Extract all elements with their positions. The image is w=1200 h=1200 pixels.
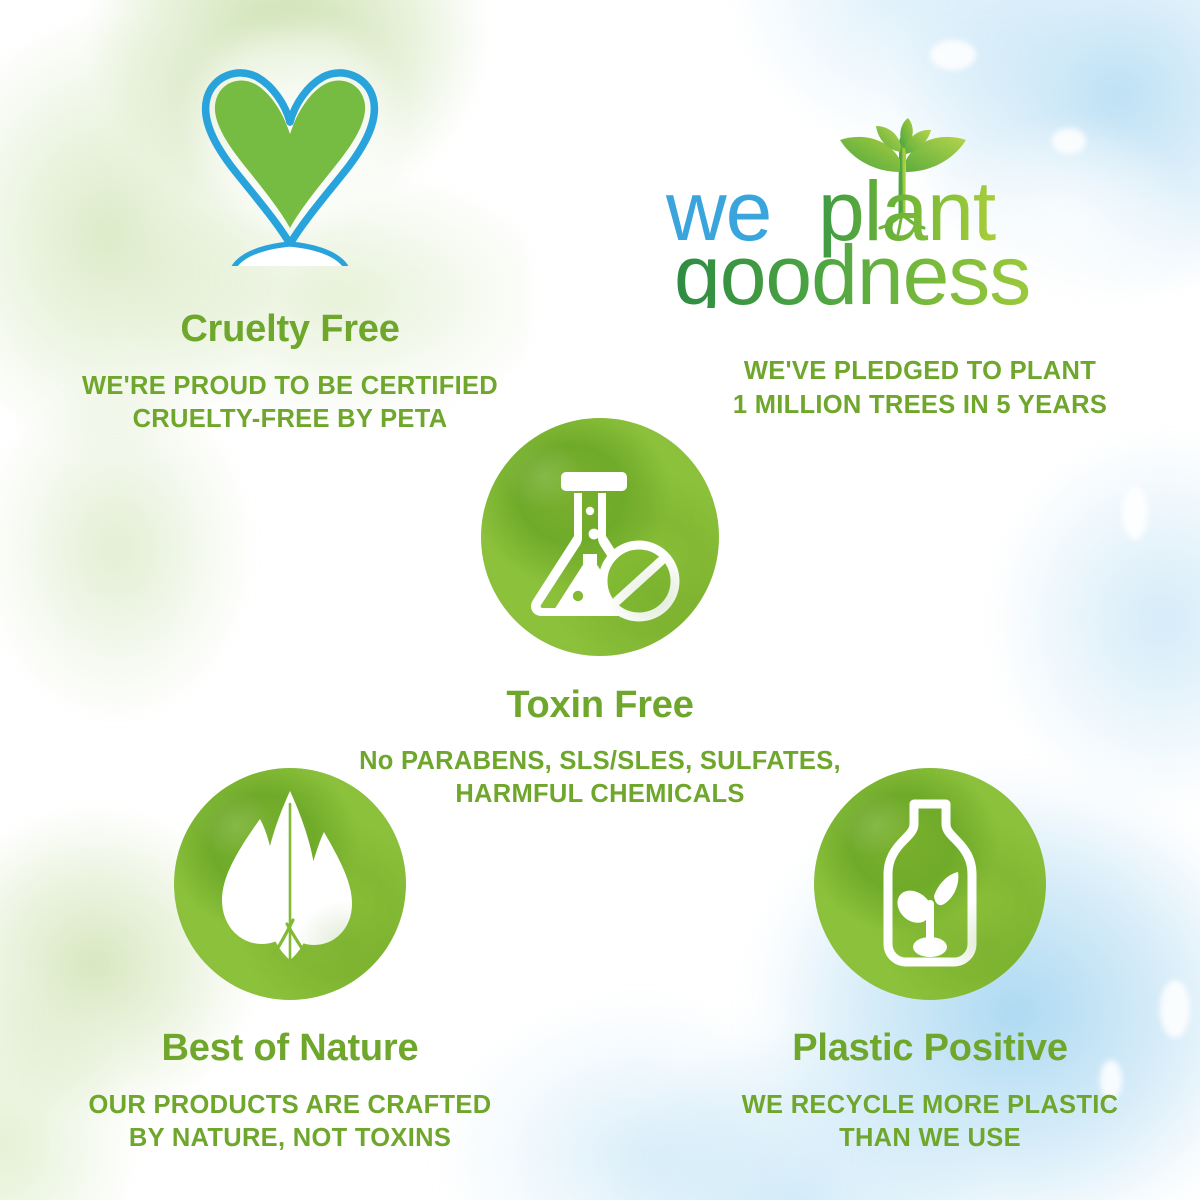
svg-text:goodness: goodness: [674, 228, 1030, 308]
badge-heading: Best of Nature: [5, 1027, 575, 1070]
badge-we-plant-goodness: we plant goodness WE'VE PLEDGED TO PLANT…: [640, 118, 1200, 422]
badge-cruelty-free: Cruelty Free WE'RE PROUD TO BE CERTIFIED…: [0, 38, 580, 437]
badge-description-line-2: BY NATURE, NOT TOXINS: [5, 1122, 575, 1156]
badge-description-line-1: OUR PRODUCTS ARE CRAFTED: [5, 1089, 575, 1123]
badge-description-line-1: WE'VE PLEDGED TO PLANT: [640, 355, 1200, 389]
paper-fleck: [930, 40, 976, 70]
badge-heading: Toxin Free: [320, 684, 880, 727]
peta-bunny-heart-icon: [0, 38, 580, 266]
flask-no-entry-icon: [481, 418, 719, 656]
infographic-canvas: Cruelty Free WE'RE PROUD TO BE CERTIFIED…: [0, 0, 1200, 1200]
bottle-sprout-icon: [814, 768, 1046, 1000]
badge-description-line-1: WE RECYCLE MORE PLASTIC: [650, 1089, 1200, 1123]
badge-description-line-1: WE'RE PROUD TO BE CERTIFIED: [0, 370, 580, 404]
badge-heading: Plastic Positive: [650, 1027, 1200, 1070]
badge-toxin-free: Toxin Free No PARABENS, SLS/SLES, SULFAT…: [320, 418, 880, 812]
three-leaves-icon: [174, 768, 406, 1000]
we-plant-goodness-logo: we plant goodness: [640, 118, 1200, 308]
badge-description-line-2: THAN WE USE: [650, 1122, 1200, 1156]
paper-fleck: [1122, 486, 1148, 540]
badge-plastic-positive: Plastic Positive WE RECYCLE MORE PLASTIC…: [650, 768, 1200, 1156]
badge-best-of-nature: Best of Nature OUR PRODUCTS ARE CRAFTED …: [5, 768, 575, 1156]
badge-heading: Cruelty Free: [0, 308, 580, 351]
